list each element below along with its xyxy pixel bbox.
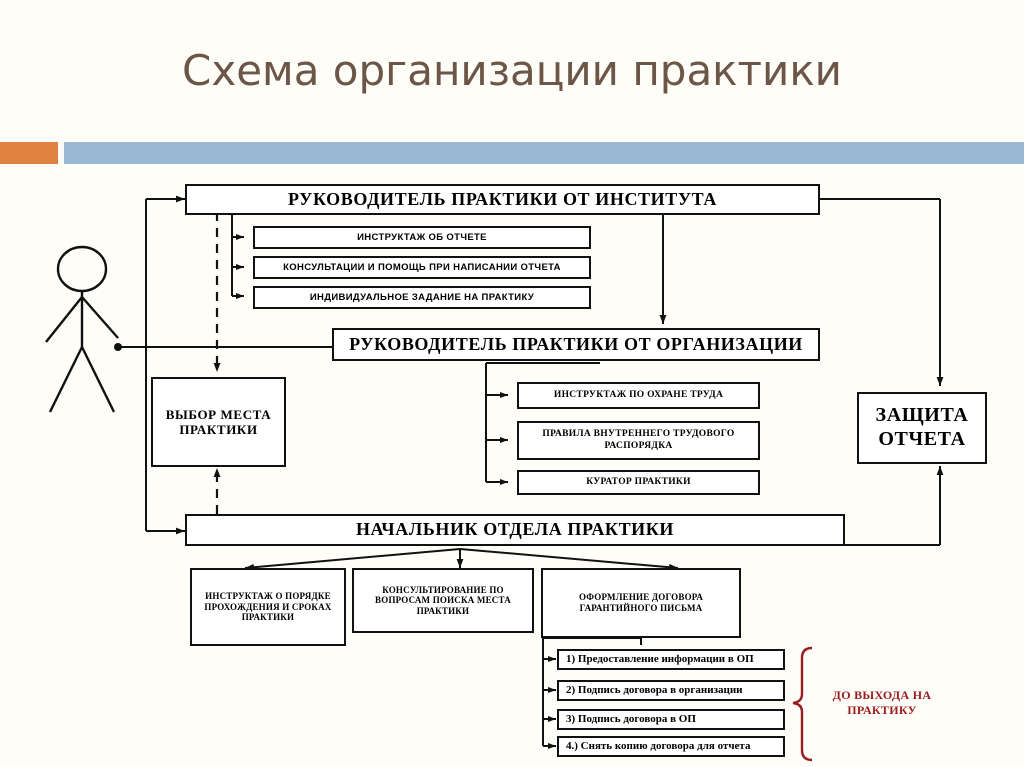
contract-step-1-label: 1) Предоставление информации в ОП <box>566 653 754 666</box>
node-institute-head[interactable]: РУКОВОДИТЕЛЬ ПРАКТИКИ ОТ ИНСТИТУТА <box>185 184 820 215</box>
contract-step-2[interactable]: 2) Подпись договора в организации <box>557 680 785 701</box>
accent-bar-orange <box>0 142 58 164</box>
contract-step-3-label: 3) Подпись договора в ОП <box>566 713 696 726</box>
node-dept-head[interactable]: НАЧАЛЬНИК ОТДЕЛА ПРАКТИКИ <box>185 514 845 546</box>
accent-bar-blue <box>64 142 1024 164</box>
node-place-choice-label: ВЫБОР МЕСТА ПРАКТИКИ <box>153 407 284 438</box>
actor-hand-dot <box>114 343 122 351</box>
brace-note-label: ДО ВЫХОДА НА ПРАКТИКУ <box>822 688 942 718</box>
task-dept-2-label: КОНСУЛЬТИРОВАНИЕ ПО ВОПРОСАМ ПОИСКА МЕСТ… <box>360 585 526 617</box>
task-org-1-label: ИНСТРУКТАЖ ПО ОХРАНЕ ТРУДА <box>554 390 723 401</box>
contract-step-4[interactable]: 4.) Снять копию договора для отчета <box>557 736 785 757</box>
task-dept-1-label: ИНСТРУКТАЖ О ПОРЯДКЕ ПРОХОЖДЕНИЯ И СРОКА… <box>198 591 338 623</box>
task-institute-1-label: ИНСТРУКТАЖ ОБ ОТЧЕТЕ <box>357 232 487 243</box>
task-dept-3[interactable]: ОФОРМЛЕНИЕ ДОГОВОРА ГАРАНТИЙНОГО ПИСЬМА <box>541 568 741 638</box>
node-defense[interactable]: ЗАЩИТА ОТЧЕТА <box>857 392 987 464</box>
task-dept-3-label: ОФОРМЛЕНИЕ ДОГОВОРА ГАРАНТИЙНОГО ПИСЬМА <box>549 592 733 613</box>
task-institute-1[interactable]: ИНСТРУКТАЖ ОБ ОТЧЕТЕ <box>253 226 591 249</box>
node-institute-head-label: РУКОВОДИТЕЛЬ ПРАКТИКИ ОТ ИНСТИТУТА <box>288 189 717 210</box>
task-institute-2[interactable]: КОНСУЛЬТАЦИИ И ПОМОЩЬ ПРИ НАПИСАНИИ ОТЧЕ… <box>253 256 591 279</box>
contract-step-2-label: 2) Подпись договора в организации <box>566 684 743 697</box>
node-place-choice[interactable]: ВЫБОР МЕСТА ПРАКТИКИ <box>151 377 286 467</box>
contract-step-4-label: 4.) Снять копию договора для отчета <box>566 740 750 753</box>
task-dept-2[interactable]: КОНСУЛЬТИРОВАНИЕ ПО ВОПРОСАМ ПОИСКА МЕСТ… <box>352 568 534 633</box>
task-org-1[interactable]: ИНСТРУКТАЖ ПО ОХРАНЕ ТРУДА <box>517 382 760 409</box>
task-org-2-label: ПРАВИЛА ВНУТРЕННЕГО ТРУДОВОГО РАСПОРЯДКА <box>519 429 758 451</box>
task-org-3-label: КУРАТОР ПРАКТИКИ <box>586 477 691 488</box>
student-actor-icon <box>46 247 118 412</box>
task-institute-2-label: КОНСУЛЬТАЦИИ И ПОМОЩЬ ПРИ НАПИСАНИИ ОТЧЕ… <box>283 262 561 273</box>
contract-step-1[interactable]: 1) Предоставление информации в ОП <box>557 649 785 670</box>
task-org-3[interactable]: КУРАТОР ПРАКТИКИ <box>517 470 760 495</box>
page-title: Схема организации практики <box>0 46 1024 95</box>
contract-step-3[interactable]: 3) Подпись договора в ОП <box>557 709 785 730</box>
node-defense-label: ЗАЩИТА ОТЧЕТА <box>859 404 985 451</box>
task-institute-3[interactable]: ИНДИВИДУАЛЬНОЕ ЗАДАНИЕ НА ПРАКТИКУ <box>253 286 591 309</box>
task-dept-1[interactable]: ИНСТРУКТАЖ О ПОРЯДКЕ ПРОХОЖДЕНИЯ И СРОКА… <box>190 568 346 646</box>
slide-canvas: Схема организации практики <box>0 0 1024 767</box>
node-org-head-label: РУКОВОДИТЕЛЬ ПРАКТИКИ ОТ ОРГАНИЗАЦИИ <box>349 334 803 355</box>
red-brace-icon <box>793 648 812 760</box>
task-org-2[interactable]: ПРАВИЛА ВНУТРЕННЕГО ТРУДОВОГО РАСПОРЯДКА <box>517 421 760 460</box>
task-institute-3-label: ИНДИВИДУАЛЬНОЕ ЗАДАНИЕ НА ПРАКТИКУ <box>310 292 534 303</box>
node-org-head[interactable]: РУКОВОДИТЕЛЬ ПРАКТИКИ ОТ ОРГАНИЗАЦИИ <box>332 328 820 361</box>
node-dept-head-label: НАЧАЛЬНИК ОТДЕЛА ПРАКТИКИ <box>356 519 674 540</box>
